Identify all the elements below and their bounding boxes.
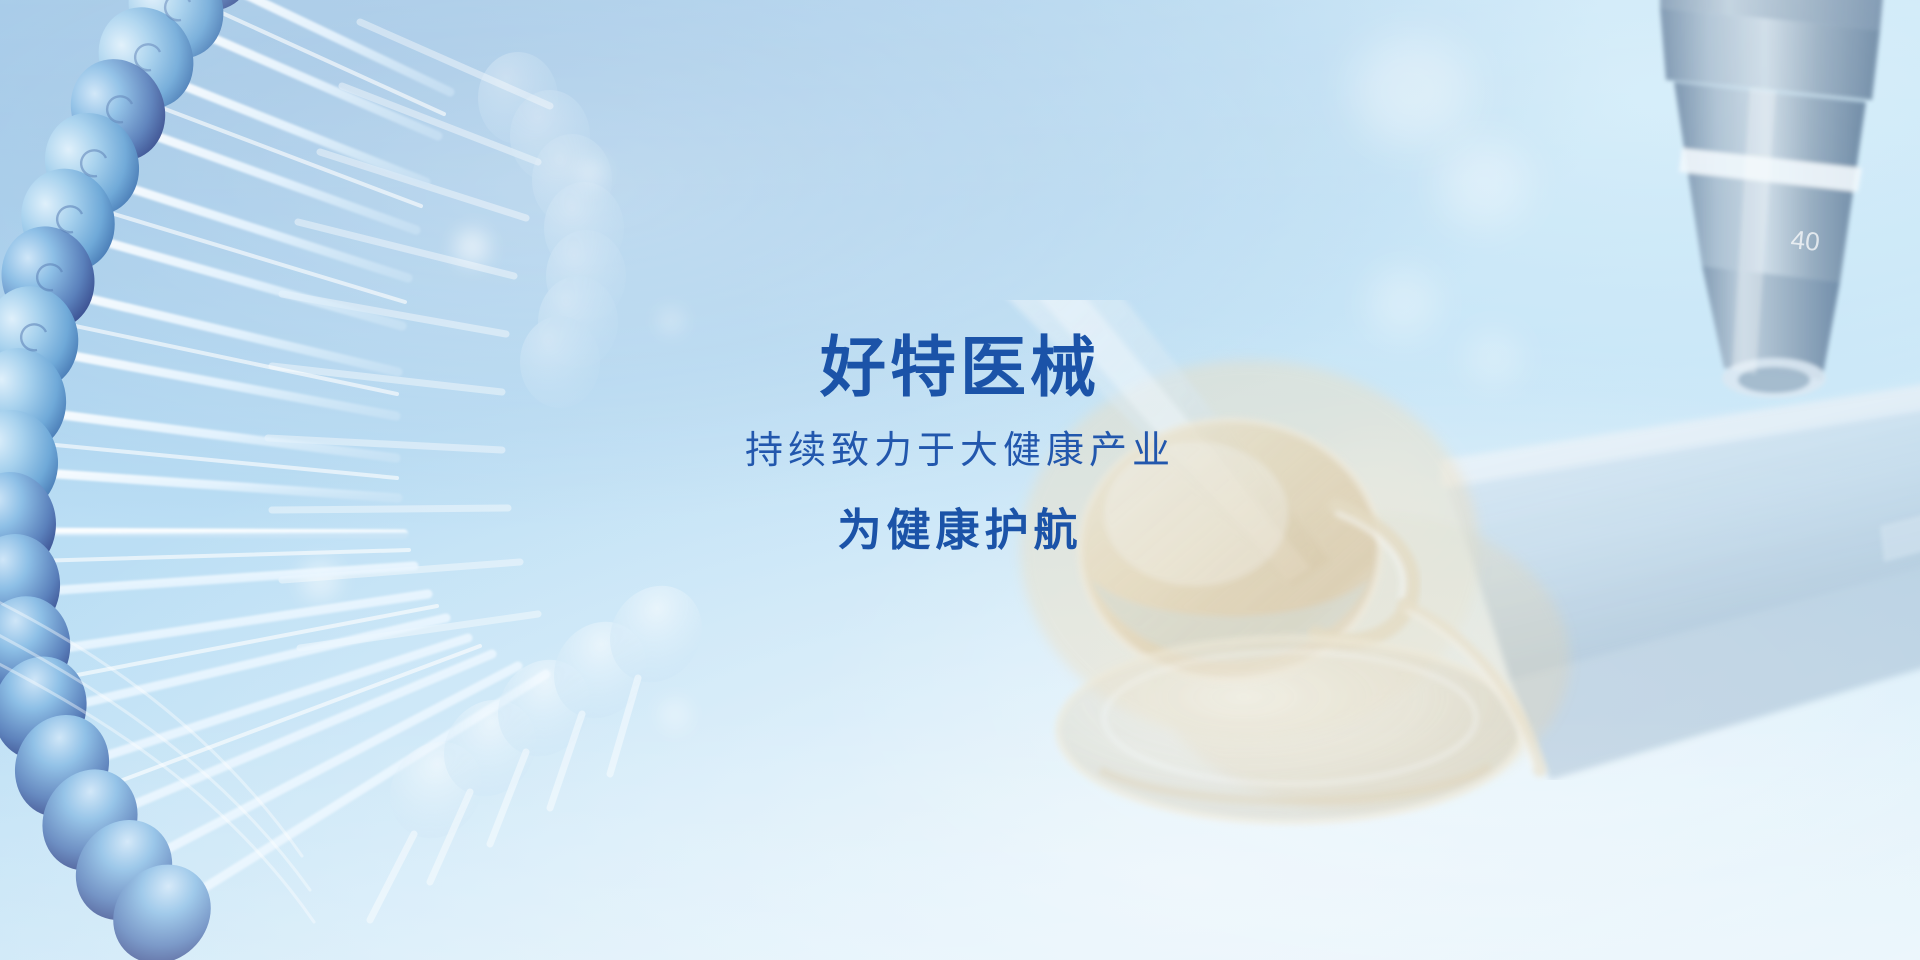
objective-magnification-label: 40: [1789, 224, 1821, 257]
banner-tagline: 为健康护航: [0, 505, 1920, 558]
banner-title: 好特医械: [0, 332, 1920, 403]
banner-copy: 好特医械 持续致力于大健康产业 为健康护航: [0, 332, 1920, 558]
banner-subtitle: 持续致力于大健康产业: [0, 429, 1920, 475]
hero-banner: 40: [0, 0, 1920, 960]
